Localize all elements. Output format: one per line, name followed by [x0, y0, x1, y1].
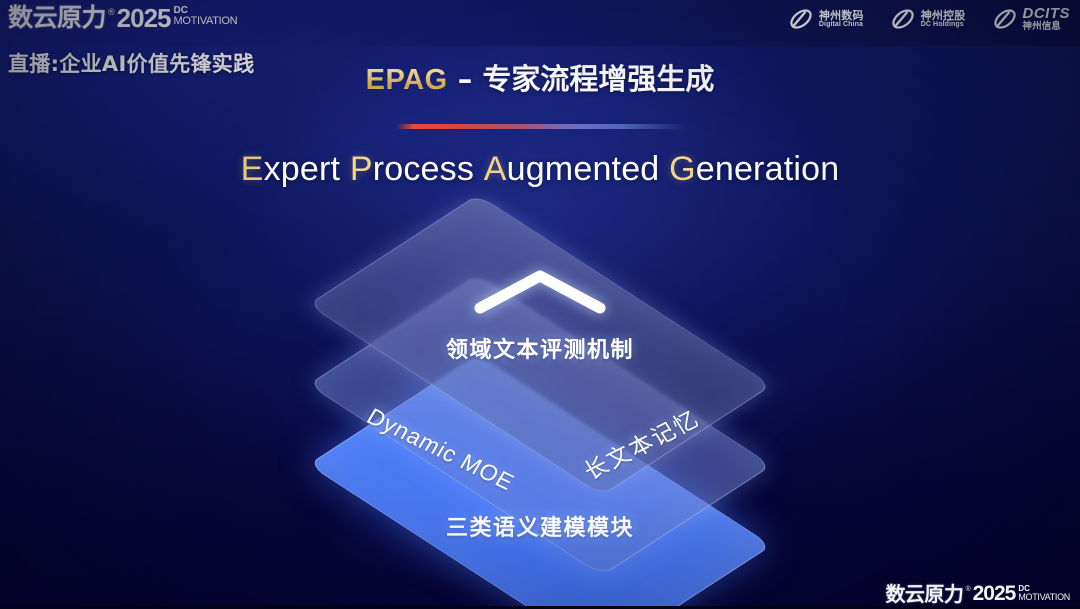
partner-logo-dc-holdings: 神州控股 DC Holdings	[890, 6, 966, 32]
partner-text: 神州控股 DC Holdings	[921, 10, 966, 29]
subtitle-cap-p: P	[350, 150, 373, 188]
partner-name-en: DCITS	[1023, 6, 1071, 22]
footer-watermark: 数云原力 ® 2025 DC MOTIVATION	[885, 583, 1070, 605]
layer-stack-diagram	[280, 236, 800, 566]
brand-dc-motivation: DC MOTIVATION	[174, 6, 238, 27]
subtitle-rest-process: rocess	[373, 150, 474, 188]
watermark-motivation-label: MOTIVATION	[1018, 593, 1070, 602]
title-chinese: 专家流程增强生成	[482, 62, 714, 96]
swirl-logo-icon	[890, 6, 916, 32]
brand-motivation-label: MOTIVATION	[174, 16, 238, 27]
subtitle-rest-augmented: ugmented	[507, 150, 660, 188]
subtitle-rest-generation: eneration	[696, 150, 840, 188]
swirl-logo-icon	[788, 6, 814, 32]
partner-logos: 神州数码 Digital China 神州控股 DC Holdings DCIT…	[788, 6, 1070, 32]
watermark-year: 2025	[973, 583, 1016, 605]
page-subtitle: Expert Process Augmented Generation	[0, 150, 1080, 189]
slide-root: 数云原力 ® 2025 DC MOTIVATION 直播:企业AI价值先锋实践 …	[0, 0, 1080, 609]
title-divider	[396, 124, 686, 129]
subtitle-cap-g: G	[669, 150, 696, 188]
page-title: EPAG – 专家流程增强生成	[0, 56, 1080, 98]
partner-text: DCITS 神州信息	[1023, 6, 1071, 32]
partner-logo-dcits: DCITS 神州信息	[992, 6, 1071, 32]
watermark-dc-motivation: DC MOTIVATION	[1018, 585, 1070, 602]
subtitle-cap-a: A	[484, 150, 507, 188]
brand-logo: 数云原力 ® 2025 DC MOTIVATION	[8, 4, 237, 32]
title-acronym: EPAG	[366, 64, 448, 96]
partner-name-en: DC Holdings	[921, 21, 966, 28]
partner-logo-digital-china: 神州数码 Digital China	[788, 6, 864, 32]
subtitle-rest-expert: xpert	[264, 150, 341, 188]
watermark-name-cn: 数云原力	[885, 583, 963, 605]
registered-mark-icon: ®	[108, 6, 115, 18]
partner-text: 神州数码 Digital China	[819, 10, 864, 29]
subtitle-cap-e: E	[241, 150, 264, 188]
swirl-logo-icon	[992, 6, 1018, 32]
title-separator: –	[448, 62, 483, 96]
brand-name-cn: 数云原力	[8, 4, 106, 32]
partner-name-cn: 神州控股	[921, 10, 966, 22]
partner-name-cn: 神州数码	[819, 10, 864, 22]
partner-name-en: Digital China	[819, 21, 864, 28]
watermark-registered-mark-icon: ®	[965, 585, 970, 595]
brand-year: 2025	[117, 4, 171, 32]
partner-name-cn: 神州信息	[1023, 22, 1071, 32]
